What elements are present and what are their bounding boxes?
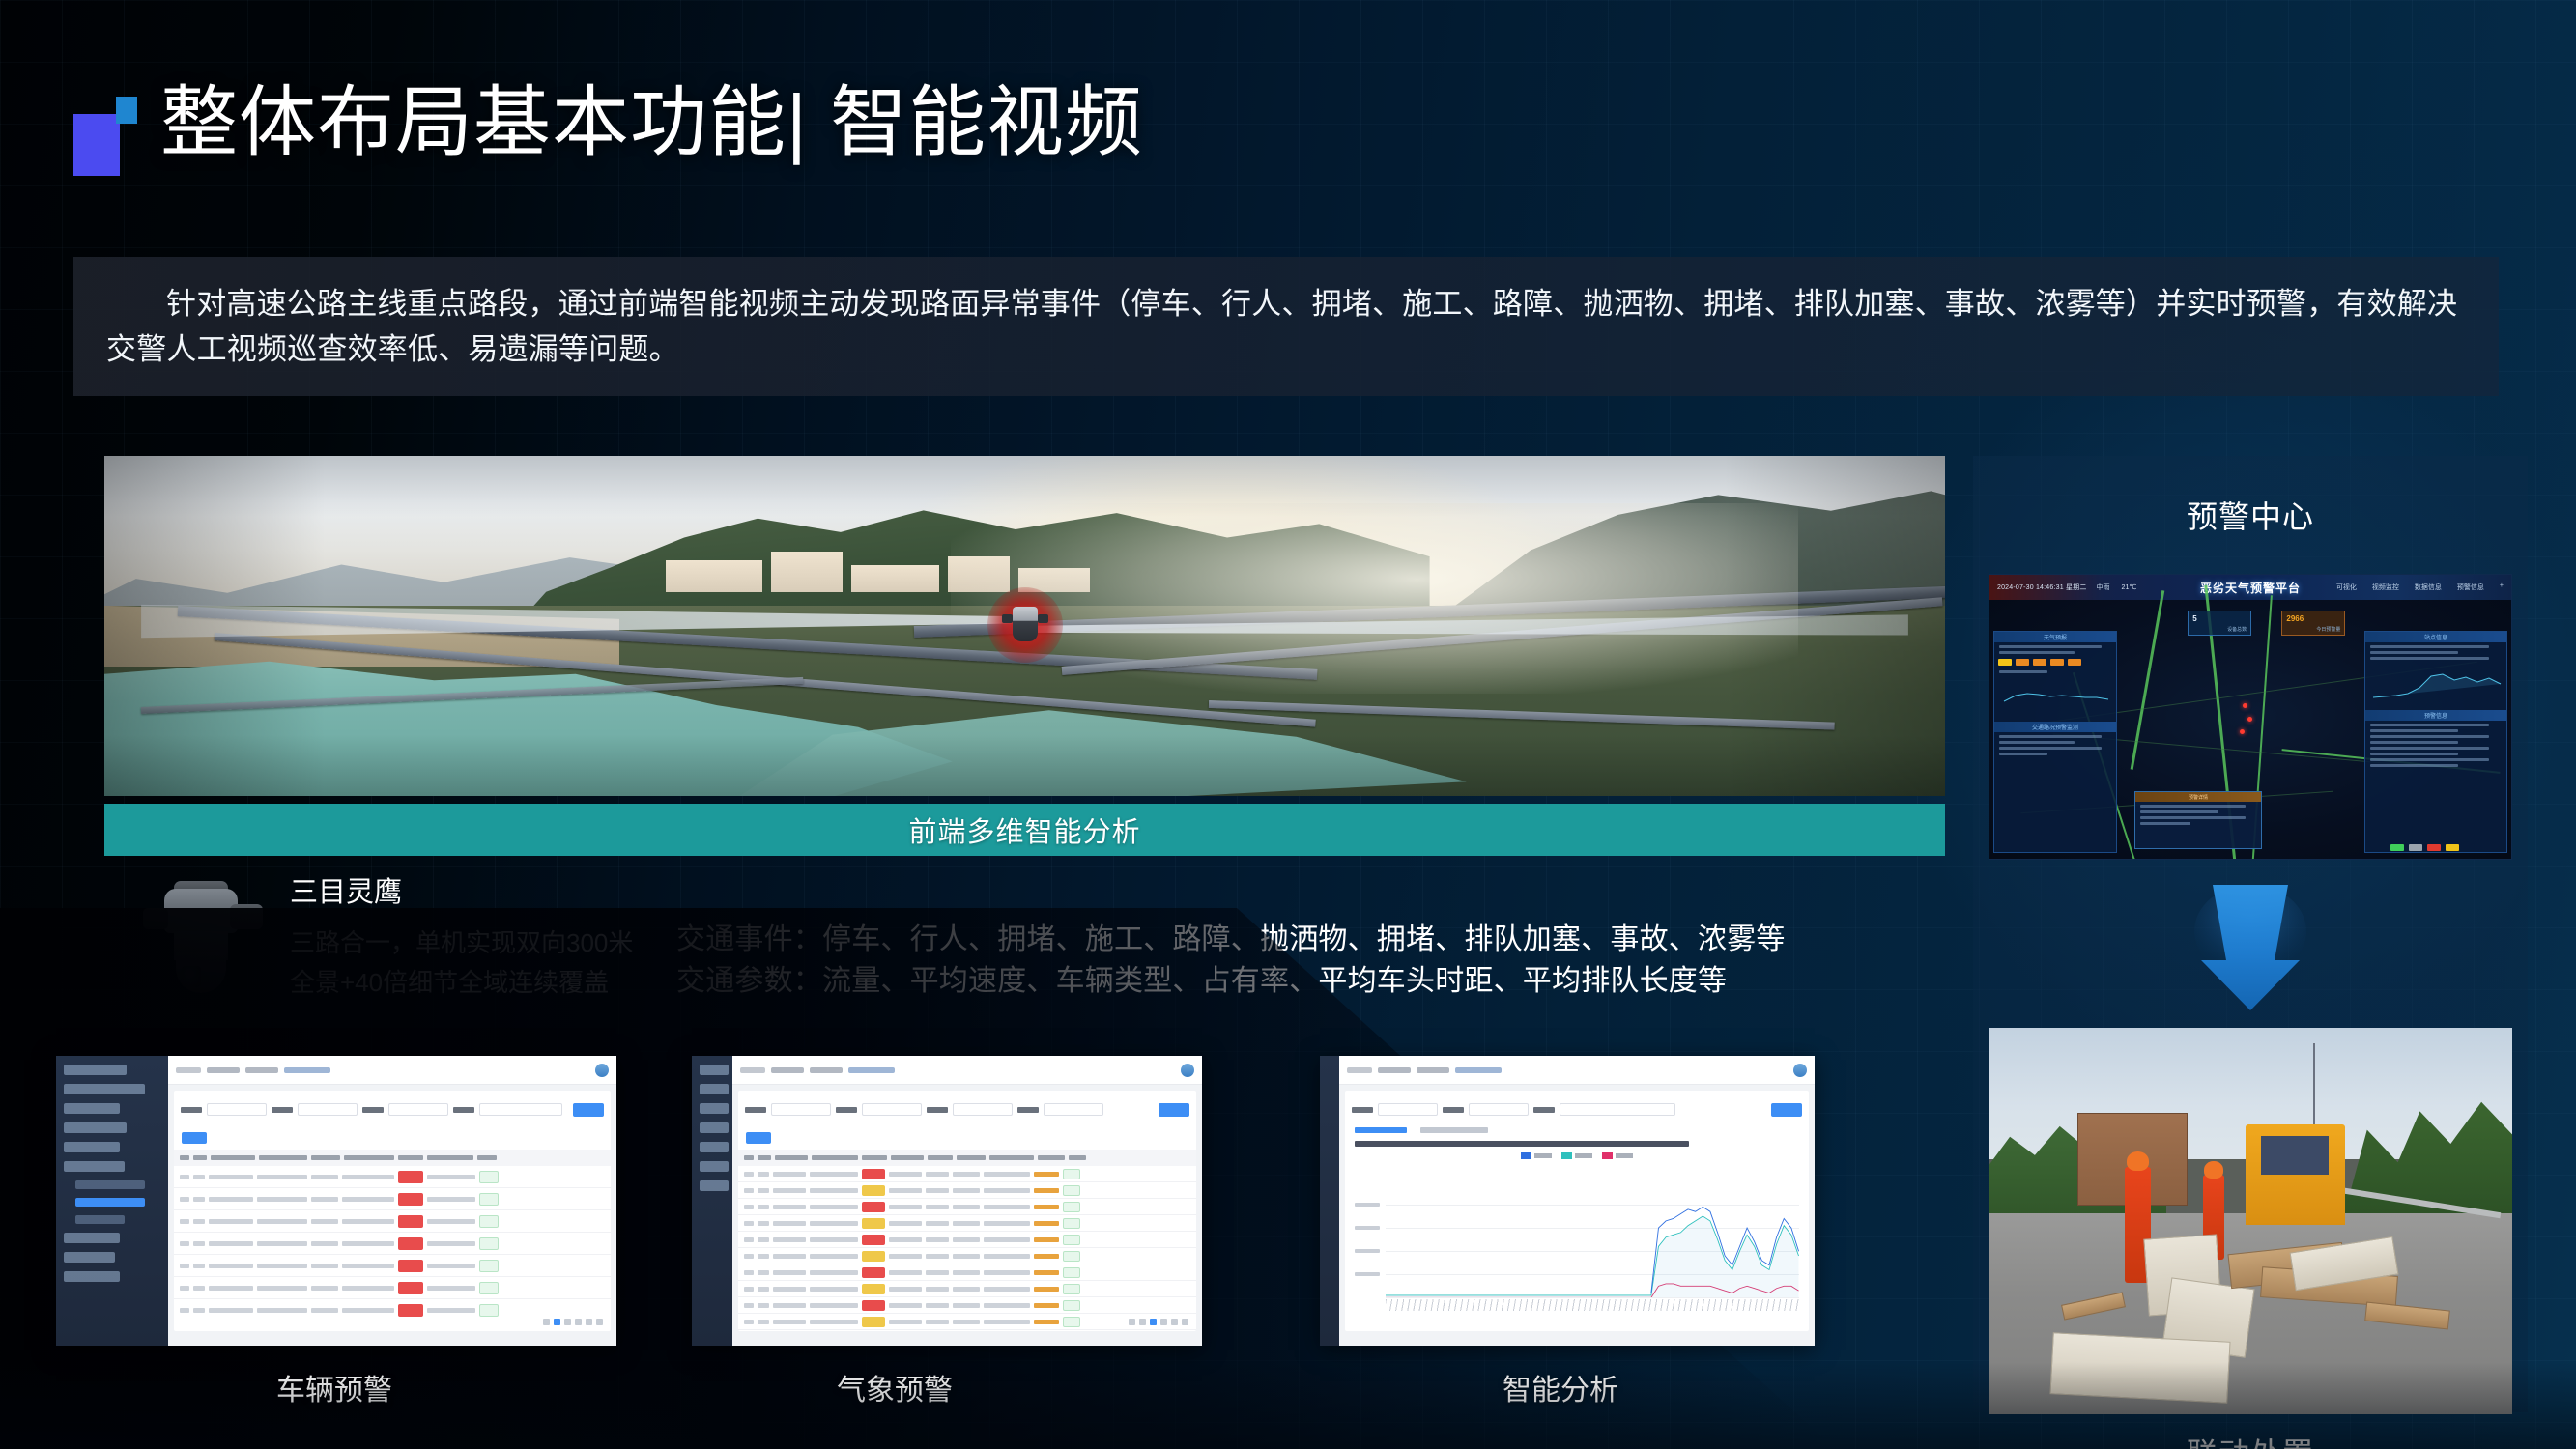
menu-toggle-icon[interactable] bbox=[176, 1067, 201, 1073]
tab-vehicle-type-stats[interactable] bbox=[1420, 1127, 1488, 1133]
column-header-index bbox=[758, 1155, 771, 1160]
dashboard-brand-title: 恶劣天气预警平台 bbox=[2200, 580, 2301, 596]
column-header-measure bbox=[1038, 1155, 1065, 1160]
page-next[interactable] bbox=[596, 1319, 603, 1325]
page-prev[interactable] bbox=[543, 1319, 550, 1325]
sidebar-item[interactable] bbox=[64, 1084, 145, 1094]
page-2[interactable] bbox=[1150, 1319, 1157, 1325]
table-row[interactable] bbox=[174, 1166, 611, 1188]
table-row[interactable] bbox=[174, 1233, 611, 1255]
dashboard-weather: 中雨 bbox=[2097, 582, 2110, 592]
traffic-params-line: 交通参数：流量、平均速度、车辆类型、占有率、平均车头时距、平均排队长度等 bbox=[676, 961, 1786, 1003]
table-card bbox=[174, 1125, 611, 1331]
legend-item-series-1[interactable] bbox=[1521, 1152, 1552, 1159]
photo-truck-cab-window bbox=[2261, 1136, 2329, 1175]
filter-label bbox=[1443, 1107, 1464, 1113]
device-name: 三目灵鹰 bbox=[290, 869, 633, 910]
description-text: 针对高速公路主线重点路段，通过前端智能视频主动发现路面异常事件（停车、行人、拥堵… bbox=[73, 281, 2499, 372]
tab-traffic-stats[interactable] bbox=[1355, 1127, 1407, 1133]
filter-label bbox=[1017, 1107, 1039, 1113]
screenshot-vehicle-alerts[interactable] bbox=[56, 1056, 616, 1346]
menu-toggle-icon[interactable] bbox=[740, 1067, 765, 1073]
screenshot-caption-vehicle: 车辆预警 bbox=[276, 1366, 392, 1408]
device-block: 三目灵鹰 三路合一，单机实现双向300米 全景+40倍细节全域连续覆盖 bbox=[143, 867, 633, 1003]
app-topbar bbox=[168, 1056, 616, 1085]
chart-card bbox=[1345, 1120, 1809, 1331]
filter-bar bbox=[738, 1091, 1196, 1128]
sidebar-item[interactable] bbox=[700, 1065, 729, 1075]
sidebar-item[interactable] bbox=[700, 1084, 729, 1094]
chart-plot-area bbox=[1355, 1205, 1799, 1297]
kpi-daily-alerts-value: 2966 bbox=[2286, 614, 2304, 623]
status-badge bbox=[862, 1202, 885, 1212]
camera-lens-left-icon bbox=[143, 908, 168, 929]
breadcrumb-item-current bbox=[284, 1067, 330, 1073]
column-header-content bbox=[344, 1155, 394, 1160]
breadcrumb-item[interactable] bbox=[1378, 1067, 1411, 1073]
screenshot-caption-analysis: 智能分析 bbox=[1503, 1366, 1618, 1408]
status-badge bbox=[862, 1251, 885, 1262]
sidebar-item[interactable] bbox=[700, 1122, 729, 1133]
sidebar-item[interactable] bbox=[64, 1103, 120, 1114]
legend-item-series-3[interactable] bbox=[1602, 1152, 1633, 1159]
filter-select[interactable] bbox=[1044, 1103, 1103, 1116]
avatar[interactable] bbox=[595, 1064, 609, 1077]
action-badge bbox=[1063, 1267, 1080, 1278]
photo-worker-2-helmet bbox=[2204, 1161, 2223, 1179]
photo-debris-panel bbox=[2049, 1332, 2230, 1404]
table-row[interactable] bbox=[738, 1199, 1196, 1215]
breadcrumb-item[interactable] bbox=[771, 1067, 804, 1073]
column-header-device bbox=[211, 1155, 255, 1160]
table-row[interactable] bbox=[738, 1232, 1196, 1248]
filter-label bbox=[745, 1107, 766, 1113]
page-3[interactable] bbox=[575, 1319, 582, 1325]
map-alert-marker[interactable] bbox=[2240, 729, 2245, 734]
filter-label bbox=[453, 1107, 474, 1113]
action-badge bbox=[1063, 1218, 1080, 1229]
filter-select[interactable] bbox=[1469, 1103, 1529, 1116]
chart-svg bbox=[1386, 1205, 1799, 1297]
sidebar-item[interactable] bbox=[64, 1122, 127, 1133]
app-sidebar[interactable] bbox=[56, 1056, 168, 1346]
left-panel-title-2: 交通路况预警监测 bbox=[1994, 722, 2116, 732]
filter-label bbox=[1533, 1107, 1555, 1113]
device-spec-line-2: 全景+40倍细节全域连续覆盖 bbox=[290, 963, 633, 1003]
chart-title bbox=[1355, 1141, 1688, 1147]
filter-select[interactable] bbox=[771, 1103, 831, 1116]
sidebar-item[interactable] bbox=[700, 1161, 729, 1172]
action-badge bbox=[1063, 1202, 1080, 1212]
kpi-daily-alerts: 2966 今日预警量 bbox=[2281, 611, 2345, 636]
page-4[interactable] bbox=[1171, 1319, 1178, 1325]
dashboard-map[interactable]: 5 设备总数 2966 今日预警量 天气预报 bbox=[1989, 600, 2511, 859]
action-badge bbox=[479, 1193, 499, 1206]
legend-offline bbox=[2409, 844, 2422, 851]
alert-detail-popup[interactable]: 预警详情 bbox=[2134, 791, 2262, 849]
y-tick-label bbox=[1355, 1249, 1380, 1253]
slide-root: 整体布局基本功能| 智能视频 针对高速公路主线重点路段，通过前端智能视频主动发现… bbox=[0, 0, 2576, 1449]
status-badge bbox=[862, 1317, 885, 1327]
legend-warning bbox=[2446, 844, 2459, 851]
status-badge bbox=[398, 1260, 423, 1272]
sidebar-item[interactable] bbox=[64, 1252, 115, 1263]
breadcrumb-item-current bbox=[1455, 1067, 1502, 1073]
y-tick-label bbox=[1355, 1272, 1380, 1276]
action-badge bbox=[479, 1260, 499, 1272]
nav-item-data[interactable]: 数据信息 bbox=[2415, 582, 2442, 592]
left-panel-title: 天气预报 bbox=[1994, 632, 2116, 642]
temperature-sparkline bbox=[1998, 680, 2114, 713]
dashboard-header: 2024-07-30 14:46:31 星期二 中雨 21℃ 恶劣天气预警平台 … bbox=[1989, 575, 2511, 600]
table-row[interactable] bbox=[174, 1210, 611, 1233]
legend-critical bbox=[2427, 844, 2441, 851]
page-4[interactable] bbox=[586, 1319, 592, 1325]
table-row[interactable] bbox=[738, 1281, 1196, 1297]
table-row[interactable] bbox=[738, 1166, 1196, 1182]
sidebar-subitem[interactable] bbox=[75, 1180, 145, 1189]
hero-banner-label: 前端多维智能分析 bbox=[908, 810, 1140, 850]
export-button[interactable] bbox=[182, 1132, 207, 1144]
action-badge bbox=[1063, 1317, 1080, 1327]
page-title: 整体布局基本功能| 智能视频 bbox=[160, 83, 1143, 162]
right-panel: 预警中心 2024-07-30 14:46:31 星期二 中雨 21℃ 恶劣天气… bbox=[1973, 456, 2528, 1412]
action-badge bbox=[1063, 1185, 1080, 1196]
column-header-device bbox=[775, 1155, 808, 1160]
kpi-device-total-label: 设备总数 bbox=[2227, 626, 2247, 633]
legend-normal bbox=[2390, 844, 2404, 851]
filter-select[interactable] bbox=[207, 1103, 267, 1116]
page-1[interactable] bbox=[1139, 1319, 1146, 1325]
search-button[interactable] bbox=[1771, 1103, 1802, 1117]
search-button[interactable] bbox=[1159, 1103, 1189, 1117]
filter-select[interactable] bbox=[1378, 1103, 1438, 1116]
hero-vignette bbox=[104, 456, 1945, 796]
action-badge bbox=[479, 1215, 499, 1228]
table-row[interactable] bbox=[738, 1264, 1196, 1281]
incident-response-photo bbox=[1989, 1028, 2512, 1414]
sidebar-item[interactable] bbox=[700, 1103, 729, 1114]
filter-select[interactable] bbox=[862, 1103, 922, 1116]
select-all-checkbox[interactable] bbox=[180, 1155, 189, 1160]
logo-mark bbox=[73, 97, 155, 180]
right-panel-title-bottom: 联动处置 bbox=[1973, 1430, 2528, 1449]
status-badge bbox=[398, 1193, 423, 1206]
app-sidebar[interactable] bbox=[1320, 1056, 1339, 1346]
nav-item-alerts[interactable]: 预警信息 bbox=[2457, 582, 2484, 592]
select-all-checkbox[interactable] bbox=[744, 1155, 754, 1160]
column-header-time bbox=[427, 1155, 473, 1160]
kpi-device-total-value: 5 bbox=[2192, 614, 2196, 623]
status-badge bbox=[862, 1169, 885, 1179]
warning-center-dashboard[interactable]: 2024-07-30 14:46:31 星期二 中雨 21℃ 恶劣天气预警平台 … bbox=[1989, 574, 2512, 860]
sidebar-item[interactable] bbox=[700, 1142, 729, 1152]
column-header-level bbox=[862, 1155, 887, 1160]
filter-label bbox=[836, 1107, 857, 1113]
status-badge bbox=[862, 1218, 885, 1229]
action-badge bbox=[479, 1171, 499, 1183]
map-alert-marker[interactable] bbox=[2247, 717, 2252, 722]
column-header-action bbox=[1069, 1155, 1086, 1160]
description-panel: 针对高速公路主线重点路段，通过前端智能视频主动发现路面异常事件（停车、行人、拥堵… bbox=[73, 257, 2499, 396]
kpi-daily-alerts-label: 今日预警量 bbox=[2316, 626, 2340, 633]
table-header-row bbox=[738, 1150, 1196, 1166]
status-badge bbox=[862, 1300, 885, 1311]
nav-item-video[interactable]: 视频监控 bbox=[2372, 582, 2399, 592]
filter-label bbox=[272, 1107, 293, 1113]
sidebar-subitem[interactable] bbox=[75, 1215, 125, 1224]
action-badge bbox=[1063, 1251, 1080, 1262]
table-row[interactable] bbox=[174, 1188, 611, 1210]
column-header-visibility bbox=[928, 1155, 953, 1160]
column-header-plate bbox=[311, 1155, 340, 1160]
right-panel-alerts-title: 预警信息 bbox=[2365, 710, 2506, 721]
column-header-index bbox=[193, 1155, 207, 1160]
action-badge bbox=[1063, 1300, 1080, 1311]
page-1[interactable] bbox=[554, 1319, 560, 1325]
app-main bbox=[168, 1056, 616, 1346]
avatar[interactable] bbox=[1793, 1064, 1807, 1077]
breadcrumb-item[interactable] bbox=[810, 1067, 843, 1073]
breadcrumb-item-current bbox=[848, 1067, 895, 1073]
chart-legend[interactable] bbox=[1345, 1152, 1809, 1159]
station-trend-chart bbox=[2369, 665, 2504, 703]
photo-transmission-tower bbox=[2313, 1043, 2315, 1136]
column-header-type bbox=[957, 1155, 986, 1160]
right-panel-station-title: 站点信息 bbox=[2365, 632, 2506, 642]
table-row[interactable] bbox=[174, 1277, 611, 1299]
sidebar-item[interactable] bbox=[64, 1271, 120, 1282]
dashboard-nav[interactable]: 可视化 视频监控 数据信息 预警信息 + bbox=[2336, 582, 2504, 592]
status-badge bbox=[862, 1267, 885, 1278]
kpi-device-total: 5 设备总数 bbox=[2188, 611, 2251, 636]
pagination[interactable] bbox=[1129, 1319, 1188, 1325]
nav-item-add[interactable]: + bbox=[2500, 582, 2504, 592]
traffic-capability-list: 交通事件：停车、行人、拥堵、施工、路障、抛洒物、拥堵、排队加塞、事故、浓雾等 交… bbox=[676, 920, 1786, 1002]
action-badge bbox=[479, 1282, 499, 1294]
date-range-input[interactable] bbox=[1560, 1103, 1675, 1116]
table-row[interactable] bbox=[174, 1255, 611, 1277]
status-badge bbox=[862, 1185, 885, 1196]
page-3[interactable] bbox=[1160, 1319, 1167, 1325]
filter-select[interactable] bbox=[953, 1103, 1013, 1116]
logo-square-primary bbox=[73, 114, 120, 176]
camera-head bbox=[164, 889, 238, 933]
action-badge bbox=[1063, 1169, 1080, 1179]
menu-toggle-icon[interactable] bbox=[1347, 1067, 1372, 1073]
camera-dome-lens-icon bbox=[182, 966, 201, 987]
status-badge bbox=[862, 1235, 885, 1245]
avatar[interactable] bbox=[1181, 1064, 1194, 1077]
screenshot-smart-analysis[interactable] bbox=[1320, 1056, 1815, 1346]
status-badge bbox=[398, 1171, 423, 1183]
y-tick-label bbox=[1355, 1203, 1380, 1207]
legend-item-series-2[interactable] bbox=[1561, 1152, 1592, 1159]
table-row[interactable] bbox=[738, 1248, 1196, 1264]
status-badge bbox=[862, 1284, 885, 1294]
action-badge bbox=[1063, 1284, 1080, 1294]
sidebar-subitem-active[interactable] bbox=[75, 1198, 145, 1207]
column-header-time bbox=[989, 1155, 1034, 1160]
table-row[interactable] bbox=[738, 1215, 1196, 1232]
column-header-location bbox=[812, 1155, 858, 1160]
app-main bbox=[732, 1056, 1202, 1346]
device-spec-line-1: 三路合一，单机实现双向300米 bbox=[290, 923, 633, 963]
camera-lens-right-icon bbox=[230, 904, 263, 929]
filter-bar bbox=[174, 1091, 611, 1128]
search-button[interactable] bbox=[573, 1103, 604, 1117]
traffic-events-line: 交通事件：停车、行人、拥堵、施工、路障、抛洒物、拥堵、排队加塞、事故、浓雾等 bbox=[676, 920, 1786, 961]
table-card bbox=[738, 1125, 1196, 1331]
filter-label bbox=[181, 1107, 202, 1113]
down-arrow-icon bbox=[2193, 885, 2307, 1010]
app-topbar bbox=[1339, 1056, 1815, 1085]
sidebar-item[interactable] bbox=[64, 1142, 120, 1152]
app-main bbox=[1339, 1056, 1815, 1346]
filter-select[interactable] bbox=[298, 1103, 358, 1116]
action-badge bbox=[1063, 1235, 1080, 1245]
photo-worker-1-helmet bbox=[2127, 1151, 2149, 1171]
map-legend bbox=[2390, 844, 2461, 851]
sidebar-item[interactable] bbox=[700, 1180, 729, 1191]
page-next[interactable] bbox=[1182, 1319, 1188, 1325]
column-header-value bbox=[891, 1155, 924, 1160]
page-prev[interactable] bbox=[1129, 1319, 1135, 1325]
dashboard-timestamp: 2024-07-30 14:46:31 星期二 bbox=[1997, 582, 2087, 592]
table-row[interactable] bbox=[738, 1314, 1196, 1330]
y-tick-label bbox=[1355, 1226, 1380, 1230]
page-2[interactable] bbox=[564, 1319, 571, 1325]
screenshot-caption-weather: 气象预警 bbox=[837, 1366, 953, 1408]
x-axis-ticks bbox=[1386, 1299, 1799, 1311]
status-badge bbox=[398, 1304, 423, 1317]
action-badge bbox=[479, 1237, 499, 1250]
status-badge bbox=[398, 1215, 423, 1228]
device-text-block: 三目灵鹰 三路合一，单机实现双向300米 全景+40倍细节全域连续覆盖 bbox=[290, 867, 633, 1003]
column-header-level bbox=[398, 1155, 423, 1160]
right-panel-title-top: 预警中心 bbox=[1973, 493, 2528, 537]
nav-item-visual[interactable]: 可视化 bbox=[2336, 582, 2357, 592]
popup-title: 预警详情 bbox=[2135, 792, 2261, 802]
map-alert-marker[interactable] bbox=[2243, 703, 2247, 708]
screenshot-weather-alerts[interactable] bbox=[692, 1056, 1202, 1346]
status-badge bbox=[398, 1237, 423, 1250]
table-row[interactable] bbox=[738, 1182, 1196, 1199]
action-badge bbox=[479, 1304, 499, 1317]
export-button[interactable] bbox=[746, 1132, 771, 1144]
filter-label bbox=[362, 1107, 384, 1113]
hero-banner: 前端多维智能分析 bbox=[104, 804, 1945, 856]
sidebar-item[interactable] bbox=[64, 1233, 120, 1243]
sidebar-item[interactable] bbox=[64, 1065, 127, 1075]
filter-label bbox=[927, 1107, 948, 1113]
dashboard-temperature: 21℃ bbox=[2122, 583, 2137, 591]
breadcrumb-item[interactable] bbox=[207, 1067, 240, 1073]
filter-label bbox=[1352, 1107, 1373, 1113]
table-header-row bbox=[174, 1150, 611, 1166]
slide-header: 整体布局基本功能| 智能视频 bbox=[73, 83, 1143, 180]
breadcrumb-item[interactable] bbox=[245, 1067, 278, 1073]
search-input[interactable] bbox=[479, 1103, 562, 1116]
dashboard-left-panel: 天气预报 交通路况预警监测 bbox=[1993, 631, 2117, 853]
status-badge bbox=[398, 1282, 423, 1294]
hero-panorama-image bbox=[104, 456, 1945, 796]
logo-square-accent bbox=[116, 97, 137, 124]
breadcrumb-item[interactable] bbox=[1417, 1067, 1449, 1073]
sidebar-item[interactable] bbox=[64, 1161, 125, 1172]
pagination[interactable] bbox=[543, 1319, 603, 1325]
filter-select[interactable] bbox=[388, 1103, 448, 1116]
app-topbar bbox=[732, 1056, 1202, 1085]
table-row[interactable] bbox=[738, 1297, 1196, 1314]
app-sidebar[interactable] bbox=[692, 1056, 732, 1346]
chart-tabs[interactable] bbox=[1345, 1120, 1809, 1137]
dashboard-right-panel: 站点信息 预警信息 bbox=[2364, 631, 2507, 853]
ptz-camera-photo bbox=[143, 867, 263, 997]
column-header-action bbox=[477, 1155, 497, 1160]
column-header-location bbox=[259, 1155, 307, 1160]
